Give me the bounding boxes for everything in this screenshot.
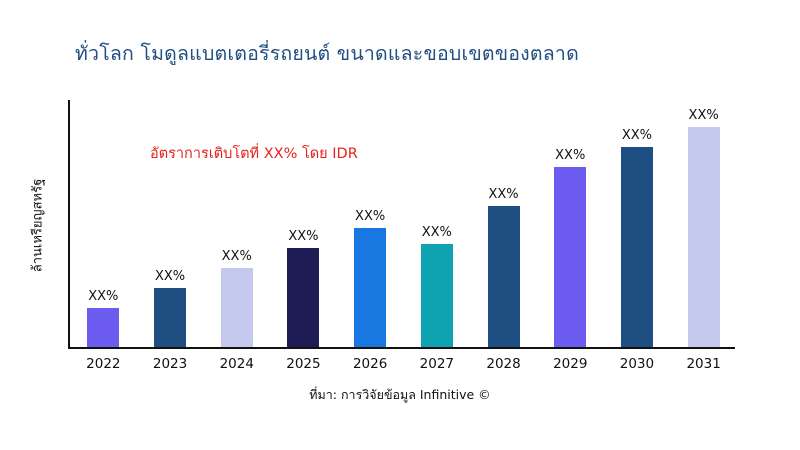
- x-tick-label: 2026: [340, 356, 400, 372]
- bar-group[interactable]: XX%: [688, 109, 720, 347]
- bar-rect[interactable]: [554, 167, 586, 348]
- bar-value-label: XX%: [689, 109, 719, 122]
- bar-group[interactable]: XX%: [87, 290, 119, 348]
- bar-value-label: XX%: [355, 210, 385, 223]
- bar-rect[interactable]: [354, 228, 386, 347]
- bar-group[interactable]: XX%: [488, 188, 520, 347]
- bar-value-label: XX%: [222, 250, 252, 263]
- source-note: ที่มา: การวิจัยข้อมูล Infinitive ©: [0, 385, 800, 405]
- bar-rect[interactable]: [688, 127, 720, 347]
- bar-group[interactable]: XX%: [221, 250, 253, 347]
- x-tick-label: 2023: [140, 356, 200, 372]
- growth-rate-annotation: อัตราการเติบโตที่ XX% โดย IDR: [150, 142, 358, 165]
- bar-rect[interactable]: [621, 147, 653, 348]
- chart-title: ทั่วโลก โมดูลแบตเตอรี่รถยนต์ ขนาดและขอบเ…: [75, 38, 579, 69]
- bar-group[interactable]: XX%: [421, 226, 453, 348]
- bar-rect[interactable]: [421, 244, 453, 348]
- y-axis-label-container: ล้านเหรียญสหรัฐ: [24, 100, 50, 350]
- bar-value-label: XX%: [155, 270, 185, 283]
- bar-value-label: XX%: [555, 149, 585, 162]
- bar-value-label: XX%: [422, 226, 452, 239]
- bar-rect[interactable]: [154, 288, 186, 347]
- bar-rect[interactable]: [221, 268, 253, 347]
- bar-rect[interactable]: [287, 248, 319, 347]
- plot-area: อัตราการเติบโตที่ XX% โดย IDR XX%XX%XX%X…: [68, 100, 735, 349]
- bar-group[interactable]: XX%: [154, 270, 186, 347]
- bar-group[interactable]: XX%: [287, 230, 319, 347]
- x-tick-label: 2024: [207, 356, 267, 372]
- bar-group[interactable]: XX%: [554, 149, 586, 348]
- x-tick-label: 2028: [474, 356, 534, 372]
- y-axis-label: ล้านเหรียญสหรัฐ: [27, 178, 48, 272]
- x-tick-label: 2025: [273, 356, 333, 372]
- bar-group[interactable]: XX%: [354, 210, 386, 347]
- x-axis-line: [68, 347, 735, 349]
- y-axis-line: [68, 100, 70, 349]
- bar-value-label: XX%: [88, 290, 118, 303]
- x-tick-label: 2027: [407, 356, 467, 372]
- x-tick-label: 2031: [674, 356, 734, 372]
- bar-value-label: XX%: [622, 129, 652, 142]
- bar-group[interactable]: XX%: [621, 129, 653, 348]
- bar-value-label: XX%: [288, 230, 318, 243]
- bar-rect[interactable]: [488, 206, 520, 347]
- x-tick-label: 2029: [540, 356, 600, 372]
- bar-value-label: XX%: [488, 188, 518, 201]
- x-tick-label: 2022: [73, 356, 133, 372]
- x-tick-label: 2030: [607, 356, 667, 372]
- bar-rect[interactable]: [87, 308, 119, 348]
- bar-chart: ทั่วโลก โมดูลแบตเตอรี่รถยนต์ ขนาดและขอบเ…: [0, 0, 800, 450]
